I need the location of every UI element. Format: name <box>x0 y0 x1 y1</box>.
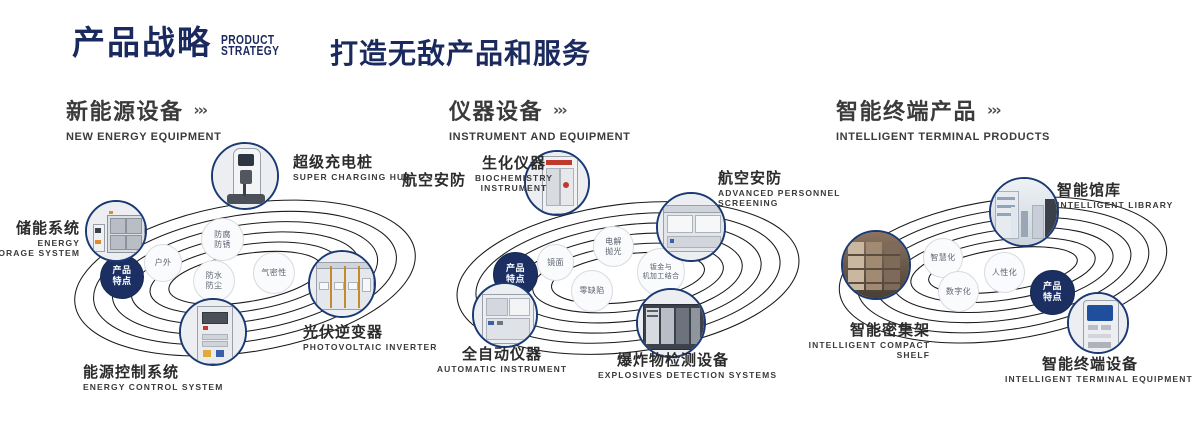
label-energy-storage-system: 储能系统 ENERGY STORAGE SYSTEM <box>0 220 80 259</box>
label-energy-control-system: 能源控制系统 ENERGY CONTROL SYSTEM <box>83 364 223 393</box>
label-en: ENERGY CONTROL SYSTEM <box>83 383 223 393</box>
node-intelligent-compact-shelf[interactable] <box>841 230 911 300</box>
cluster-new-energy: 户外 防腐 防锈 气密性 防水 防尘 产品 特点 <box>55 160 435 390</box>
section-heading-en: NEW ENERGY EQUIPMENT <box>66 131 221 143</box>
energy-control-thumb <box>181 300 245 364</box>
node-super-charging-hub[interactable] <box>211 142 279 210</box>
feature-bubble-humanization: 人性化 <box>984 252 1025 293</box>
terminal-equipment-thumb <box>1069 294 1127 352</box>
label-cn: 智能密集架 <box>785 322 930 339</box>
feature-bubble-outdoor: 户外 <box>144 244 182 282</box>
feature-bubble-zero-defect: 零缺陷 <box>571 270 613 312</box>
label-super-charging-hub: 超级充电桩 SUPER CHARGING HUB <box>293 154 412 183</box>
explosives-detection-thumb <box>638 290 704 356</box>
label-en-line2: SCREENING <box>718 199 841 209</box>
bubble-line: 智慧化 <box>930 253 955 263</box>
label-en-line2: SHELF <box>785 351 930 361</box>
section-heading-cn: 智能终端产品 ››› <box>836 94 1050 126</box>
label-en: INTELLIGENT TERMINAL EQUIPMENT <box>1005 375 1175 385</box>
node-intelligent-library[interactable] <box>989 177 1059 247</box>
bubble-line: 特点 <box>112 277 131 288</box>
bubble-line: 零缺陷 <box>579 286 604 296</box>
label-en: AUTOMATIC INSTRUMENT <box>432 365 572 375</box>
label-explosives-detection-systems: 爆炸物检测设备 EXPLOSIVES DETECTION SYSTEMS <box>598 352 748 381</box>
section-heading-cn: 新能源设备 ››› <box>66 94 221 126</box>
bubble-line: 数字化 <box>946 287 971 297</box>
cluster-instrument: 镜面 电解 抛光 钣金与 机加工结合 零缺陷 产品 特点 <box>438 160 818 390</box>
label-en: ENERGY STORAGE SYSTEM <box>0 239 80 259</box>
section-heading-instrument: 仪器设备 ››› INSTRUMENT AND EQUIPMENT <box>449 94 630 143</box>
cluster-intelligent-terminal: 智慧化 人性化 数字化 产品 特点 <box>825 160 1195 390</box>
label-cn: 智能馆库 <box>1057 182 1173 199</box>
label-cn: 全自动仪器 <box>432 346 572 363</box>
bubble-line: 产品 <box>506 264 525 275</box>
section-heading-cn-text: 智能终端产品 <box>836 94 977 126</box>
label-automatic-instrument: 全自动仪器 AUTOMATIC INSTRUMENT <box>432 346 572 375</box>
label-en-line2: INSTRUMENT <box>466 184 562 194</box>
bubble-line: 特点 <box>1043 293 1062 304</box>
bubble-line: 产品 <box>112 266 131 277</box>
label-cn: 生化仪器 <box>466 155 562 172</box>
page-subtitle: 打造无敌产品和服务 <box>330 32 591 72</box>
section-heading-new-energy: 新能源设备 ››› NEW ENERGY EQUIPMENT <box>66 94 221 143</box>
label-cn: 能源控制系统 <box>83 364 223 381</box>
node-automatic-instrument[interactable] <box>472 282 538 348</box>
automatic-instrument-thumb <box>474 284 536 346</box>
product-strategy-infographic: 产品战略 PRODUCT STRATEGY 打造无敌产品和服务 新能源设备 ››… <box>0 0 1200 422</box>
node-energy-control-system[interactable] <box>179 298 247 366</box>
label-cn: 储能系统 <box>0 220 80 237</box>
bubble-line: 钣金与 <box>643 263 680 272</box>
section-heading-cn-text: 新能源设备 <box>66 94 184 126</box>
label-intelligent-library: 智能馆库 INTELLIGENT LIBRARY <box>1057 182 1173 211</box>
label-cn: 超级充电桩 <box>293 154 412 171</box>
chevron-right-icon: ››› <box>553 101 566 119</box>
chevron-right-icon: ››› <box>194 101 207 119</box>
section-heading-en: INTELLIGENT TERMINAL PRODUCTS <box>836 131 1050 143</box>
label-intelligent-terminal-equipment: 智能终端设备 INTELLIGENT TERMINAL EQUIPMENT <box>1005 356 1175 385</box>
charging-hub-thumb <box>213 144 277 208</box>
feature-bubble-mirror-finish: 镜面 <box>537 244 574 281</box>
bubble-line: 电解 <box>605 237 622 247</box>
label-en: INTELLIGENT LIBRARY <box>1057 201 1173 211</box>
feature-bubble-digitalization: 数字化 <box>938 271 979 312</box>
bubble-line: 防腐 <box>214 230 231 240</box>
feature-bubble-electropolishing: 电解 抛光 <box>593 226 634 267</box>
feature-bubble-airtightness: 气密性 <box>253 252 295 294</box>
label-en: PHOTOVOLTAIC INVERTER <box>303 343 438 353</box>
node-photovoltaic-inverter[interactable] <box>308 250 376 318</box>
personnel-screening-thumb <box>658 194 724 260</box>
node-advanced-personnel-screening[interactable] <box>656 192 726 262</box>
section-heading-intelligent-terminal: 智能终端产品 ››› INTELLIGENT TERMINAL PRODUCTS <box>836 94 1050 143</box>
bubble-line: 抛光 <box>605 247 622 257</box>
label-advanced-personnel-screening: 航空安防 ADVANCED PERSONNEL SCREENING <box>718 170 841 209</box>
bubble-line: 户外 <box>155 258 172 268</box>
page-title-en: PRODUCT STRATEGY <box>221 35 279 57</box>
chevron-right-icon: ››› <box>987 101 1000 119</box>
label-aviation-security-aux: 航空安防 <box>402 172 466 189</box>
bubble-line: 气密性 <box>261 268 286 278</box>
label-en: EXPLOSIVES DETECTION SYSTEMS <box>598 371 748 381</box>
energy-storage-thumb <box>87 202 145 260</box>
photovoltaic-inverter-thumb <box>310 252 374 316</box>
feature-bubble-waterproof: 防水 防尘 <box>193 260 235 302</box>
bubble-line: 防尘 <box>206 281 223 291</box>
label-en: SUPER CHARGING HUB <box>293 173 412 183</box>
label-cn: 航空安防 <box>402 172 466 189</box>
label-biochemistry-instrument: 生化仪器 BIOCHEMISTRY INSTRUMENT <box>466 155 562 194</box>
label-cn: 智能终端设备 <box>1005 356 1175 373</box>
bubble-line: 产品 <box>1043 282 1062 293</box>
node-energy-storage-system[interactable] <box>85 200 147 262</box>
compact-shelf-thumb <box>843 232 909 298</box>
center-bubble-product-features: 产品 特点 <box>100 255 144 299</box>
node-intelligent-terminal-equipment[interactable] <box>1067 292 1129 354</box>
label-intelligent-compact-shelf: 智能密集架 INTELLIGENT COMPACT SHELF <box>785 322 930 361</box>
node-explosives-detection-systems[interactable] <box>636 288 706 358</box>
section-heading-en: INSTRUMENT AND EQUIPMENT <box>449 131 630 143</box>
intelligent-library-thumb <box>991 179 1057 245</box>
label-cn: 光伏逆变器 <box>303 324 438 341</box>
label-cn: 航空安防 <box>718 170 841 187</box>
bubble-line: 机加工结合 <box>643 272 680 281</box>
page-title-cn: 产品战略 <box>72 26 212 59</box>
section-heading-cn: 仪器设备 ››› <box>449 94 630 126</box>
feature-bubble-anticorrosion: 防腐 防锈 <box>201 218 244 261</box>
label-cn: 爆炸物检测设备 <box>598 352 748 369</box>
section-heading-cn-text: 仪器设备 <box>449 94 543 126</box>
label-photovoltaic-inverter: 光伏逆变器 PHOTOVOLTAIC INVERTER <box>303 324 438 353</box>
bubble-line: 人性化 <box>992 268 1017 278</box>
page-title: 产品战略 PRODUCT STRATEGY <box>72 26 292 59</box>
bubble-line: 镜面 <box>547 258 564 268</box>
bubble-line: 防水 <box>206 271 223 281</box>
page-title-en-line2: STRATEGY <box>221 46 279 57</box>
bubble-line: 防锈 <box>214 240 231 250</box>
